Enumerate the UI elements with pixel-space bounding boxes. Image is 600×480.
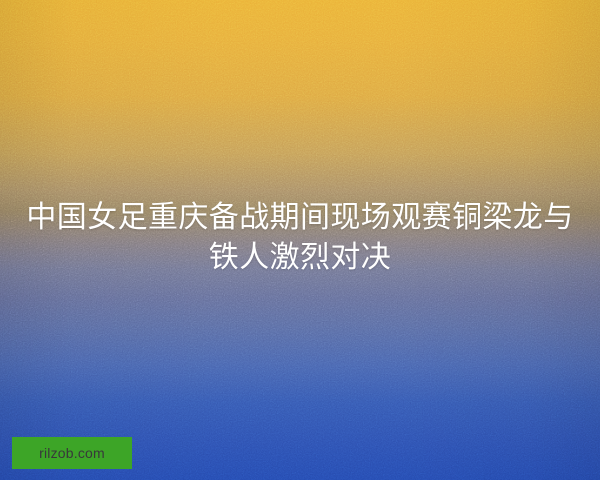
page-title: 中国女足重庆备战期间现场观赛铜梁龙与 铁人激烈对决 <box>0 198 600 278</box>
thumbnail-canvas: 中国女足重庆备战期间现场观赛铜梁龙与 铁人激烈对决 rilzob.com <box>0 0 600 480</box>
watermark-label: rilzob.com <box>39 446 105 460</box>
title-line-2: 铁人激烈对决 <box>18 238 582 278</box>
title-line-1: 中国女足重庆备战期间现场观赛铜梁龙与 <box>18 198 582 238</box>
watermark-badge[interactable]: rilzob.com <box>12 437 132 469</box>
